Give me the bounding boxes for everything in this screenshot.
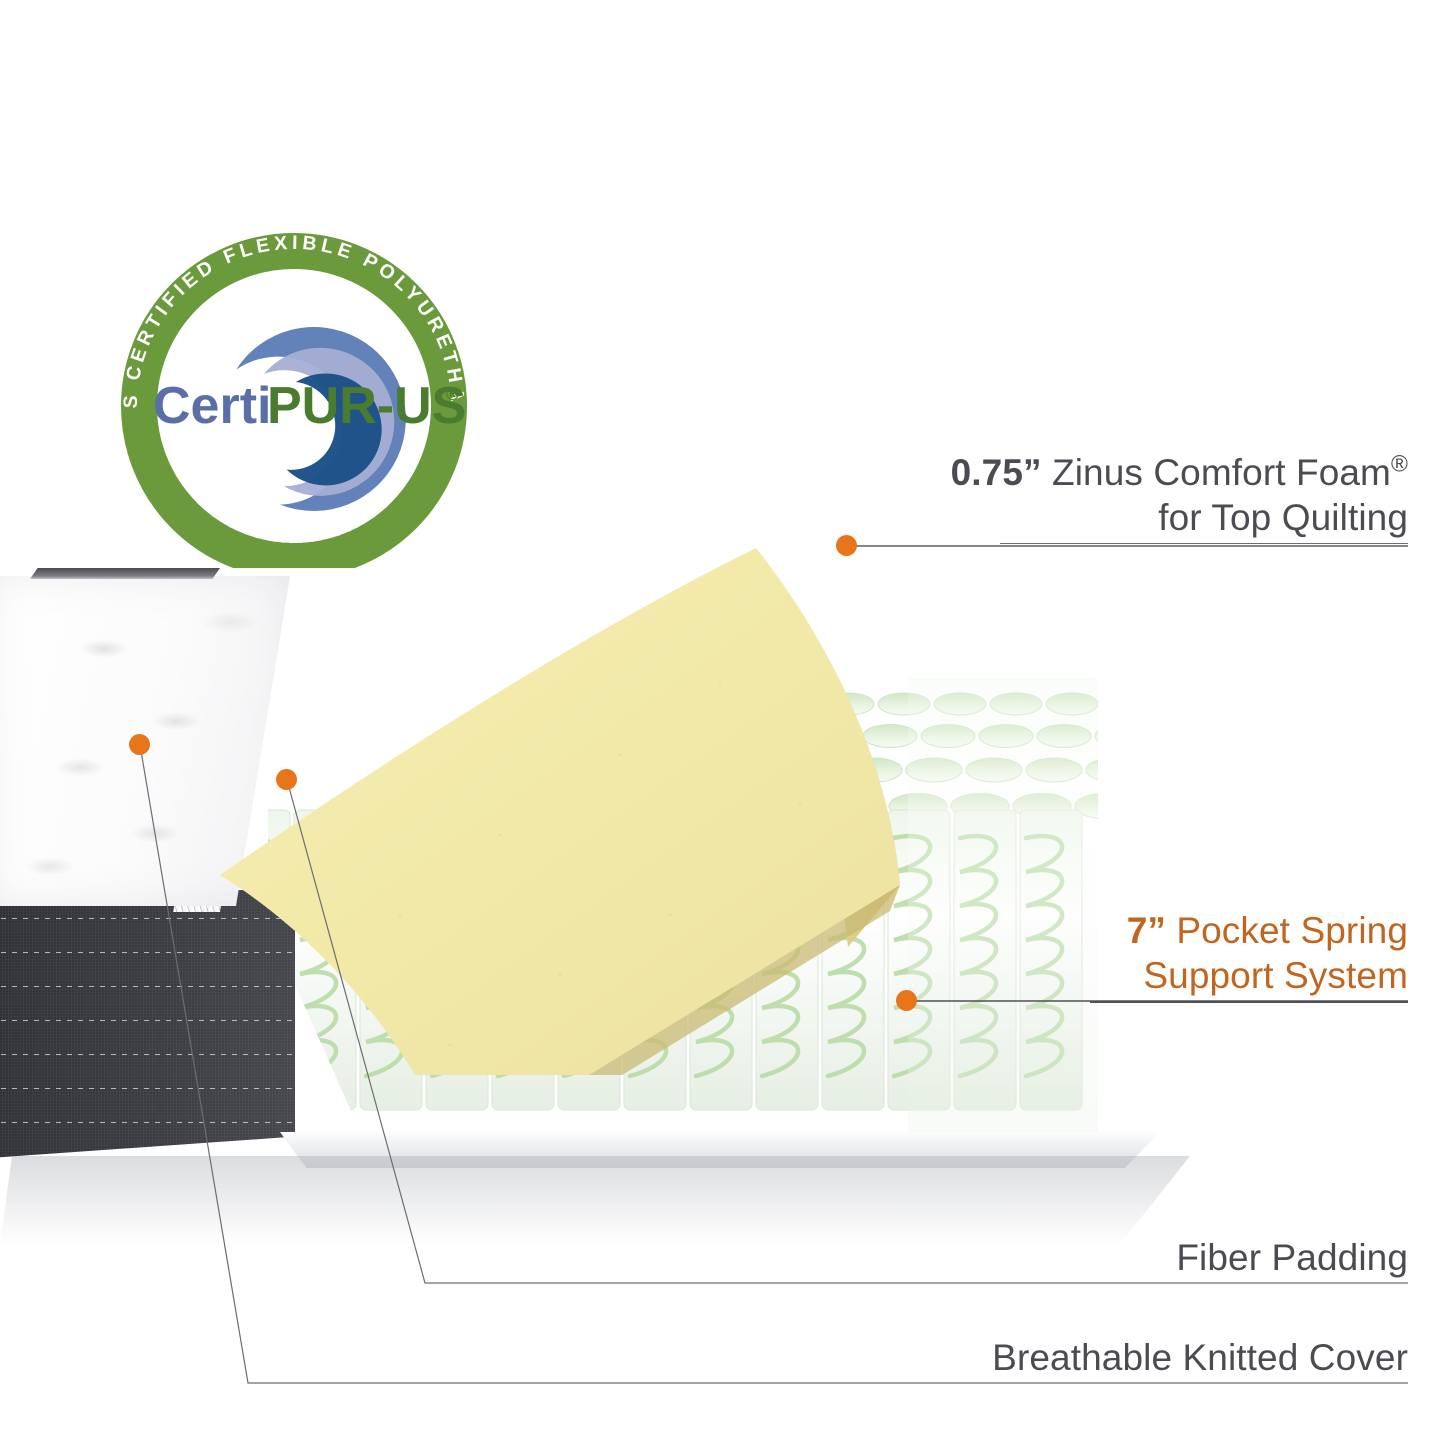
callout-comfort-foam-measure: 0.75” [951, 452, 1042, 493]
cover-back-edge [30, 568, 220, 579]
stitch-line [0, 1088, 295, 1089]
mattress-cutaway [0, 560, 1200, 1200]
callout-comfort-foam-line2: for Top Quilting [951, 495, 1408, 540]
callout-dot-fiber[interactable] [276, 769, 297, 790]
callout-dot-cover[interactable] [129, 734, 150, 755]
callout-comfort-foam: 0.75” Zinus Comfort Foam® for Top Quilti… [951, 450, 1408, 540]
mattress-infographic: CONTAINS CERTIFIED FLEXIBLE POLYURETHANE… [0, 0, 1445, 1445]
callout-pocket-spring-measure: 7” [1127, 910, 1166, 951]
callout-pocket-spring-text: Pocket Spring [1166, 910, 1408, 951]
callout-comfort-foam-line1: 0.75” Zinus Comfort Foam® [951, 450, 1408, 495]
base-shadow [0, 1156, 1190, 1246]
callout-breathable-cover-text: Breathable Knitted Cover [992, 1335, 1408, 1380]
callout-pocket-spring-line1: 7” Pocket Spring [1127, 908, 1408, 953]
callout-pocket-spring-line2: Support System [1127, 953, 1408, 998]
registered-icon: ® [1391, 451, 1408, 477]
callout-comfort-foam-text: Zinus Comfort Foam [1042, 452, 1391, 493]
underline-comfort-foam [1000, 543, 1408, 544]
callout-fiber-padding: Fiber Padding [1176, 1235, 1408, 1280]
callout-dot-spring[interactable] [896, 990, 917, 1011]
underline-pocket-spring [1090, 1001, 1408, 1003]
callout-fiber-padding-text: Fiber Padding [1176, 1235, 1408, 1280]
callout-breathable-cover: Breathable Knitted Cover [992, 1335, 1408, 1380]
stitch-line [0, 1122, 295, 1123]
callout-pocket-spring: 7” Pocket Spring Support System [1127, 908, 1408, 998]
comfort-foam-layer [200, 355, 1030, 1075]
callout-dot-foam[interactable] [836, 535, 857, 556]
